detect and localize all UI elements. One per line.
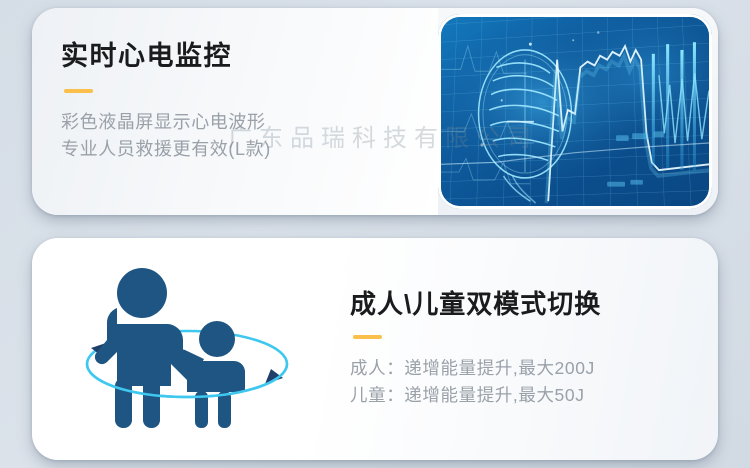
dual-mode-subtitle-adult: 成人：递增能量提升,最大200J (350, 355, 718, 382)
dual-mode-title: 成人\儿童双模式切换 (350, 290, 718, 319)
dual-mode-subtitle-child: 儿童：递增能量提升,最大50J (350, 382, 718, 409)
page-title: 实时心电监控 (61, 42, 438, 72)
adult-figure (95, 268, 199, 428)
dual-mode-icon-pane (32, 238, 342, 460)
ecg-media-pane (438, 8, 718, 215)
card-ecg-monitor[interactable]: 实时心电监控 彩色液晶屏显示心电波形 专业人员救援更有效(L款) (32, 8, 718, 215)
ecg-subtitle-line-2: 专业人员救援更有效(L款) (61, 136, 438, 163)
dual-mode-accent-bar (353, 335, 382, 339)
ecg-text-pane: 实时心电监控 彩色液晶屏显示心电波形 专业人员救援更有效(L款) (32, 8, 438, 215)
dual-mode-text-pane: 成人\儿童双模式切换 成人：递增能量提升,最大200J 儿童：递增能量提升,最大… (342, 290, 718, 409)
ecg-brain-icon (441, 17, 709, 206)
ecg-brain-visual (438, 14, 712, 209)
card-dual-mode[interactable]: 成人\儿童双模式切换 成人：递增能量提升,最大200J 儿童：递增能量提升,最大… (32, 238, 718, 460)
adult-child-figures-icon (69, 260, 305, 432)
ecg-subtitle-line-1: 彩色液晶屏显示心电波形 (61, 109, 438, 136)
title-accent-bar (64, 89, 93, 93)
